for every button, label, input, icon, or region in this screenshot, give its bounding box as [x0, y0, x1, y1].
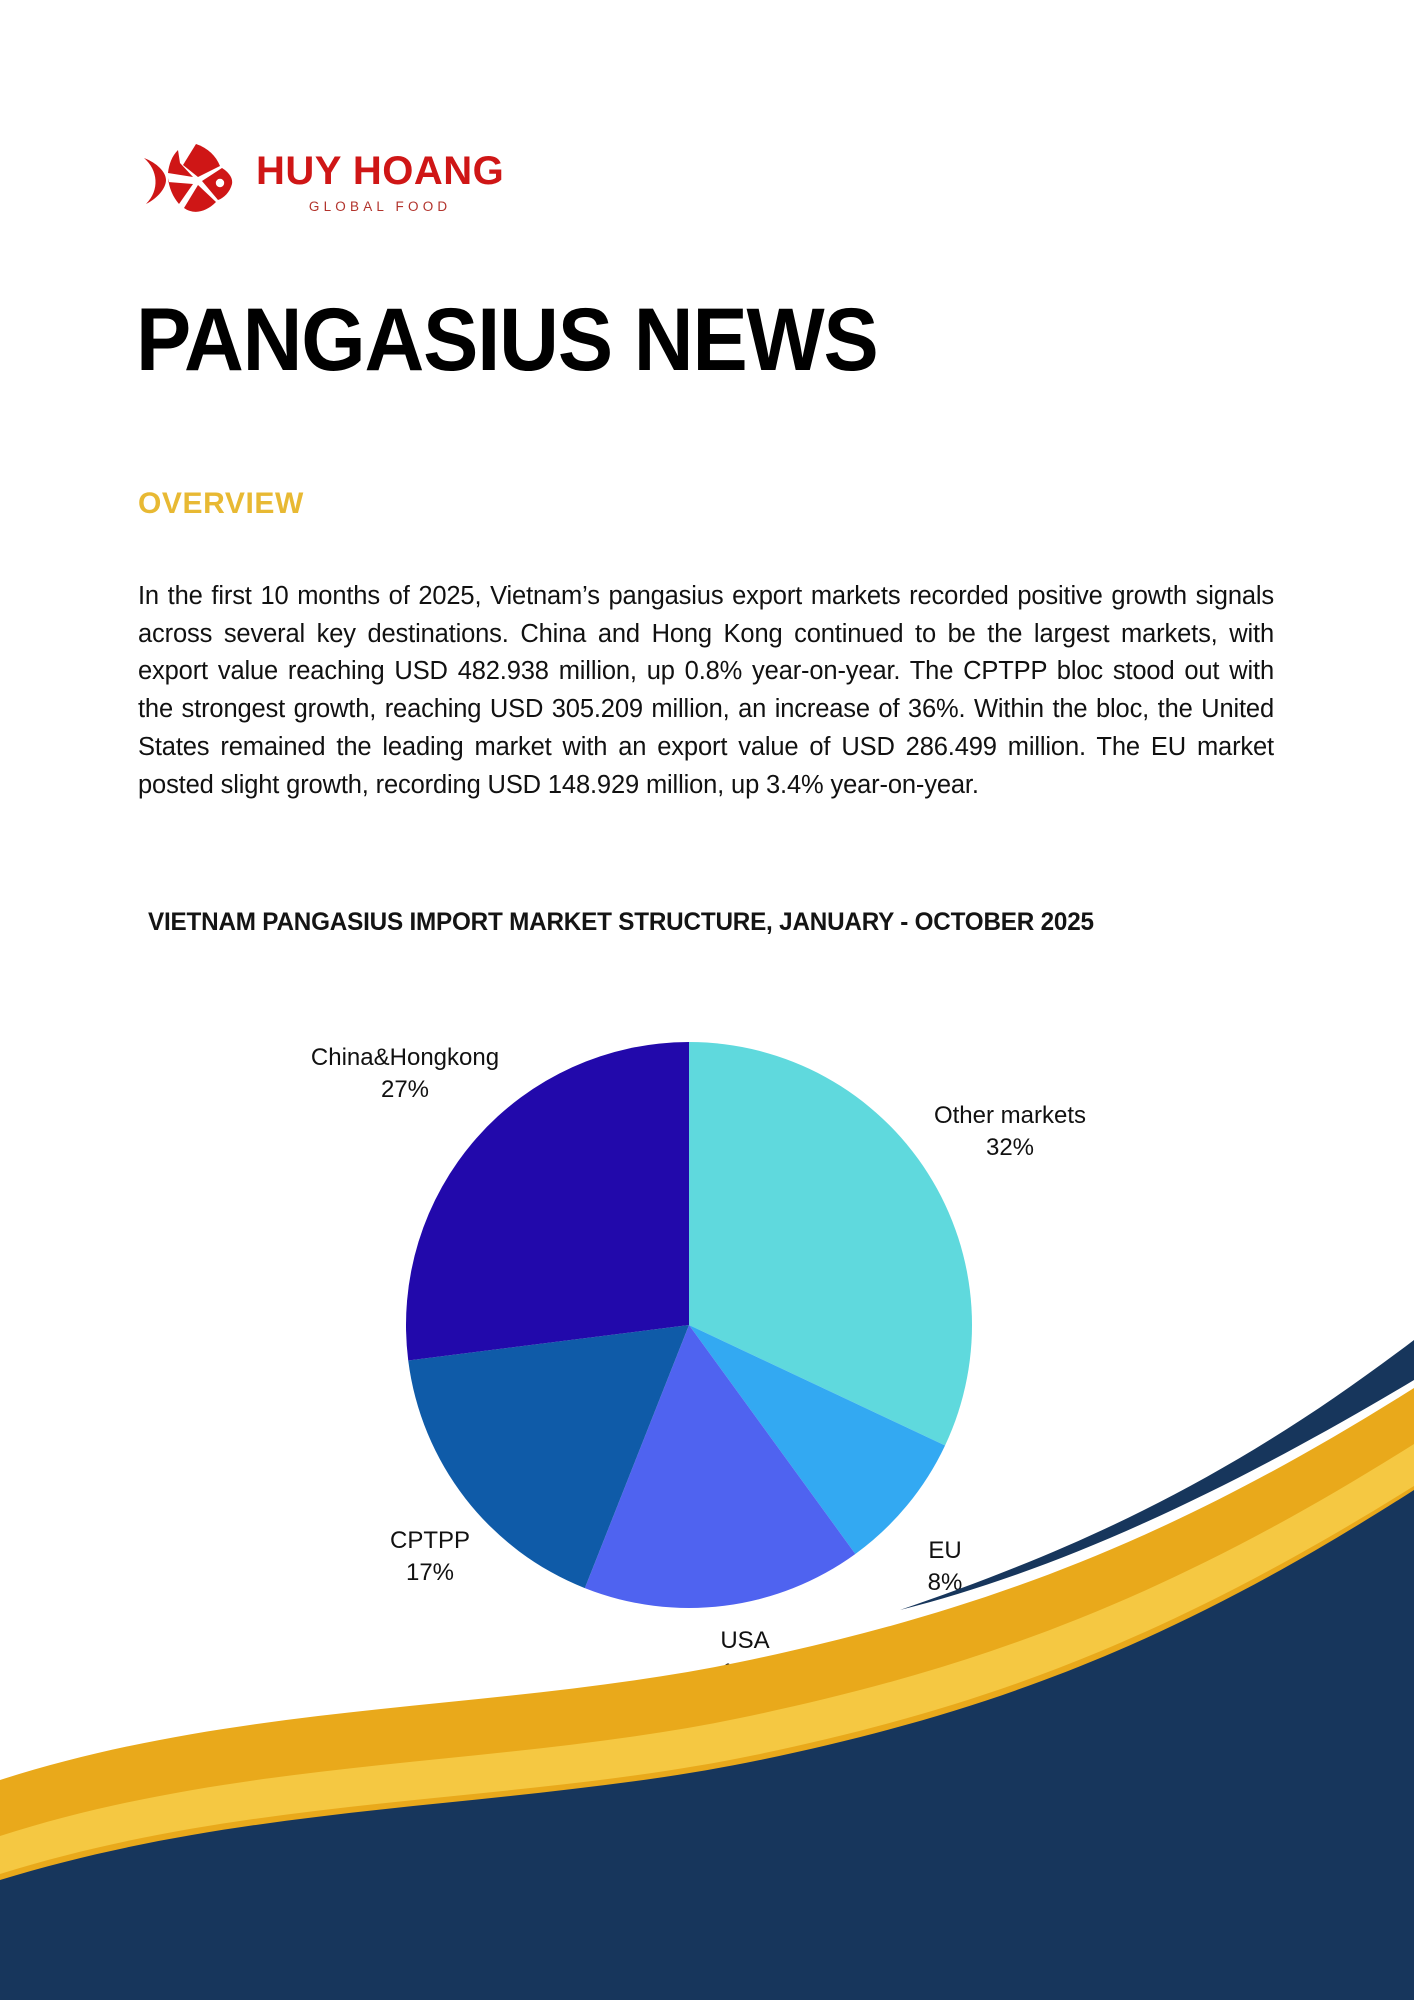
- pie-label-name: Other markets: [920, 1100, 1100, 1132]
- pie-label-value: 8%: [905, 1567, 985, 1599]
- pie-label-value: 17%: [370, 1557, 490, 1589]
- pie-label-usa: USA 16%: [690, 1625, 800, 1688]
- news-page: HUY HOANG GLOBAL FOOD PANGASIUS NEWS OVE…: [0, 0, 1414, 2000]
- chart-title: VIETNAM PANGASIUS IMPORT MARKET STRUCTUR…: [148, 908, 1094, 937]
- pie-label-china-hongkong: China&Hongkong 27%: [305, 1042, 505, 1105]
- pie-label-value: 27%: [305, 1074, 505, 1106]
- brand-name: HUY HOANG: [256, 151, 504, 191]
- pie-chart: [0, 1000, 1414, 1700]
- page-title: PANGASIUS NEWS: [136, 296, 878, 383]
- pie-label-name: CPTPP: [370, 1525, 490, 1557]
- pie-label-name: USA: [690, 1625, 800, 1657]
- pie-label-eu: EU 8%: [905, 1535, 985, 1598]
- pie-label-name: China&Hongkong: [305, 1042, 505, 1074]
- brand-logo: HUY HOANG GLOBAL FOOD: [138, 140, 504, 220]
- brand-wordmark: HUY HOANG GLOBAL FOOD: [256, 147, 504, 214]
- pie-label-value: 32%: [920, 1132, 1100, 1164]
- pie-label-value: 16%: [690, 1657, 800, 1689]
- brand-tagline: GLOBAL FOOD: [309, 200, 451, 214]
- overview-paragraph: In the first 10 months of 2025, Vietnam’…: [138, 578, 1274, 804]
- pie-label-name: EU: [905, 1535, 985, 1567]
- fish-logo-icon: [138, 140, 234, 220]
- pie-label-cptpp: CPTPP 17%: [370, 1525, 490, 1588]
- pie-label-other-markets: Other markets 32%: [920, 1100, 1100, 1163]
- section-heading-overview: OVERVIEW: [138, 487, 304, 521]
